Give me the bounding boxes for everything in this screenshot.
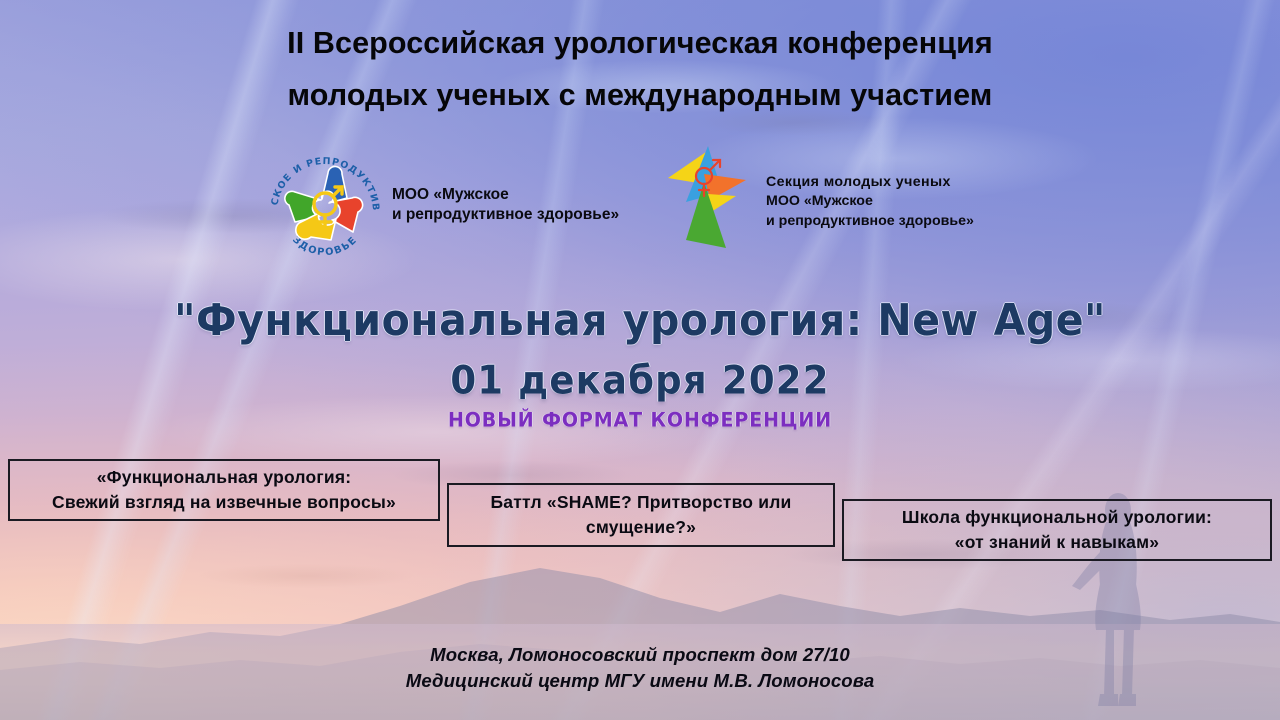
organisation-logo-caption: МОО «Мужское и репродуктивное здоровье» (392, 185, 619, 225)
logo-row: МУЖСКОЕ И РЕПРОДУКТИВНОЕ ЗДОРОВЬЕ (0, 140, 1280, 272)
session-box-battle-shame[interactable]: Баттл «SHAME? Притворство или смущение?» (447, 483, 835, 547)
session-2-line-2: смущение?» (490, 515, 791, 540)
theme-date: 01 декабря 2022 (0, 358, 1280, 404)
theme-block: "Функциональная урология: New Age" 01 де… (0, 296, 1280, 431)
session-1-line-1: «Функциональная урология: (52, 465, 396, 490)
title-line-2: молодых ученых с международным участием (0, 80, 1280, 111)
title-line-1: II Всероссийская урологическая конференц… (0, 28, 1280, 59)
session-2-line-1: Баттл «SHAME? Притворство или (490, 490, 791, 515)
page-title: II Всероссийская урологическая конференц… (0, 28, 1280, 110)
theme-title: "Функциональная урология: New Age" (0, 295, 1280, 346)
venue-address: Москва, Ломоносовский проспект дом 27/10… (0, 642, 1280, 694)
theme-subtitle: НОВЫЙ ФОРМАТ КОНФЕРЕНЦИИ (0, 408, 1280, 431)
conference-poster: II Всероссийская урологическая конференц… (0, 0, 1280, 720)
venue-line-1: Москва, Ломоносовский проспект дом 27/10 (0, 642, 1280, 668)
section-caption-line-1: Секция молодых ученых (766, 173, 974, 192)
session-3-line-2: «от знаний к навыкам» (902, 530, 1212, 555)
organisation-caption-line-2: и репродуктивное здоровье» (392, 205, 619, 225)
session-3-line-1: Школа функциональной урологии: (902, 505, 1212, 530)
session-box-school-functional-urology[interactable]: Школа функциональной урологии: «от знани… (842, 499, 1272, 561)
section-logo-caption: Секция молодых ученых МОО «Мужское и реп… (766, 173, 974, 230)
section-caption-line-3: и репродуктивное здоровье» (766, 212, 974, 231)
organisation-logo: МУЖСКОЕ И РЕПРОДУКТИВНОЕ ЗДОРОВЬЕ (262, 142, 619, 268)
section-logo: Секция молодых ученых МОО «Мужское и реп… (664, 144, 974, 260)
organisation-caption-line-1: МОО «Мужское (392, 185, 619, 205)
triangles-gender-logo-icon (664, 144, 760, 260)
session-box-functional-urology[interactable]: «Функциональная урология: Свежий взгляд … (8, 459, 440, 521)
venue-line-2: Медицинский центр МГУ имени М.В. Ломонос… (0, 668, 1280, 694)
session-1-line-2: Свежий взгляд на извечные вопросы» (52, 490, 396, 515)
svg-text:МУЖСКОЕ И РЕПРОДУКТИВНОЕ: МУЖСКОЕ И РЕПРОДУКТИВНОЕ (262, 142, 381, 212)
puzzle-gender-logo-icon: МУЖСКОЕ И РЕПРОДУКТИВНОЕ ЗДОРОВЬЕ (262, 142, 388, 268)
section-caption-line-2: МОО «Мужское (766, 192, 974, 211)
